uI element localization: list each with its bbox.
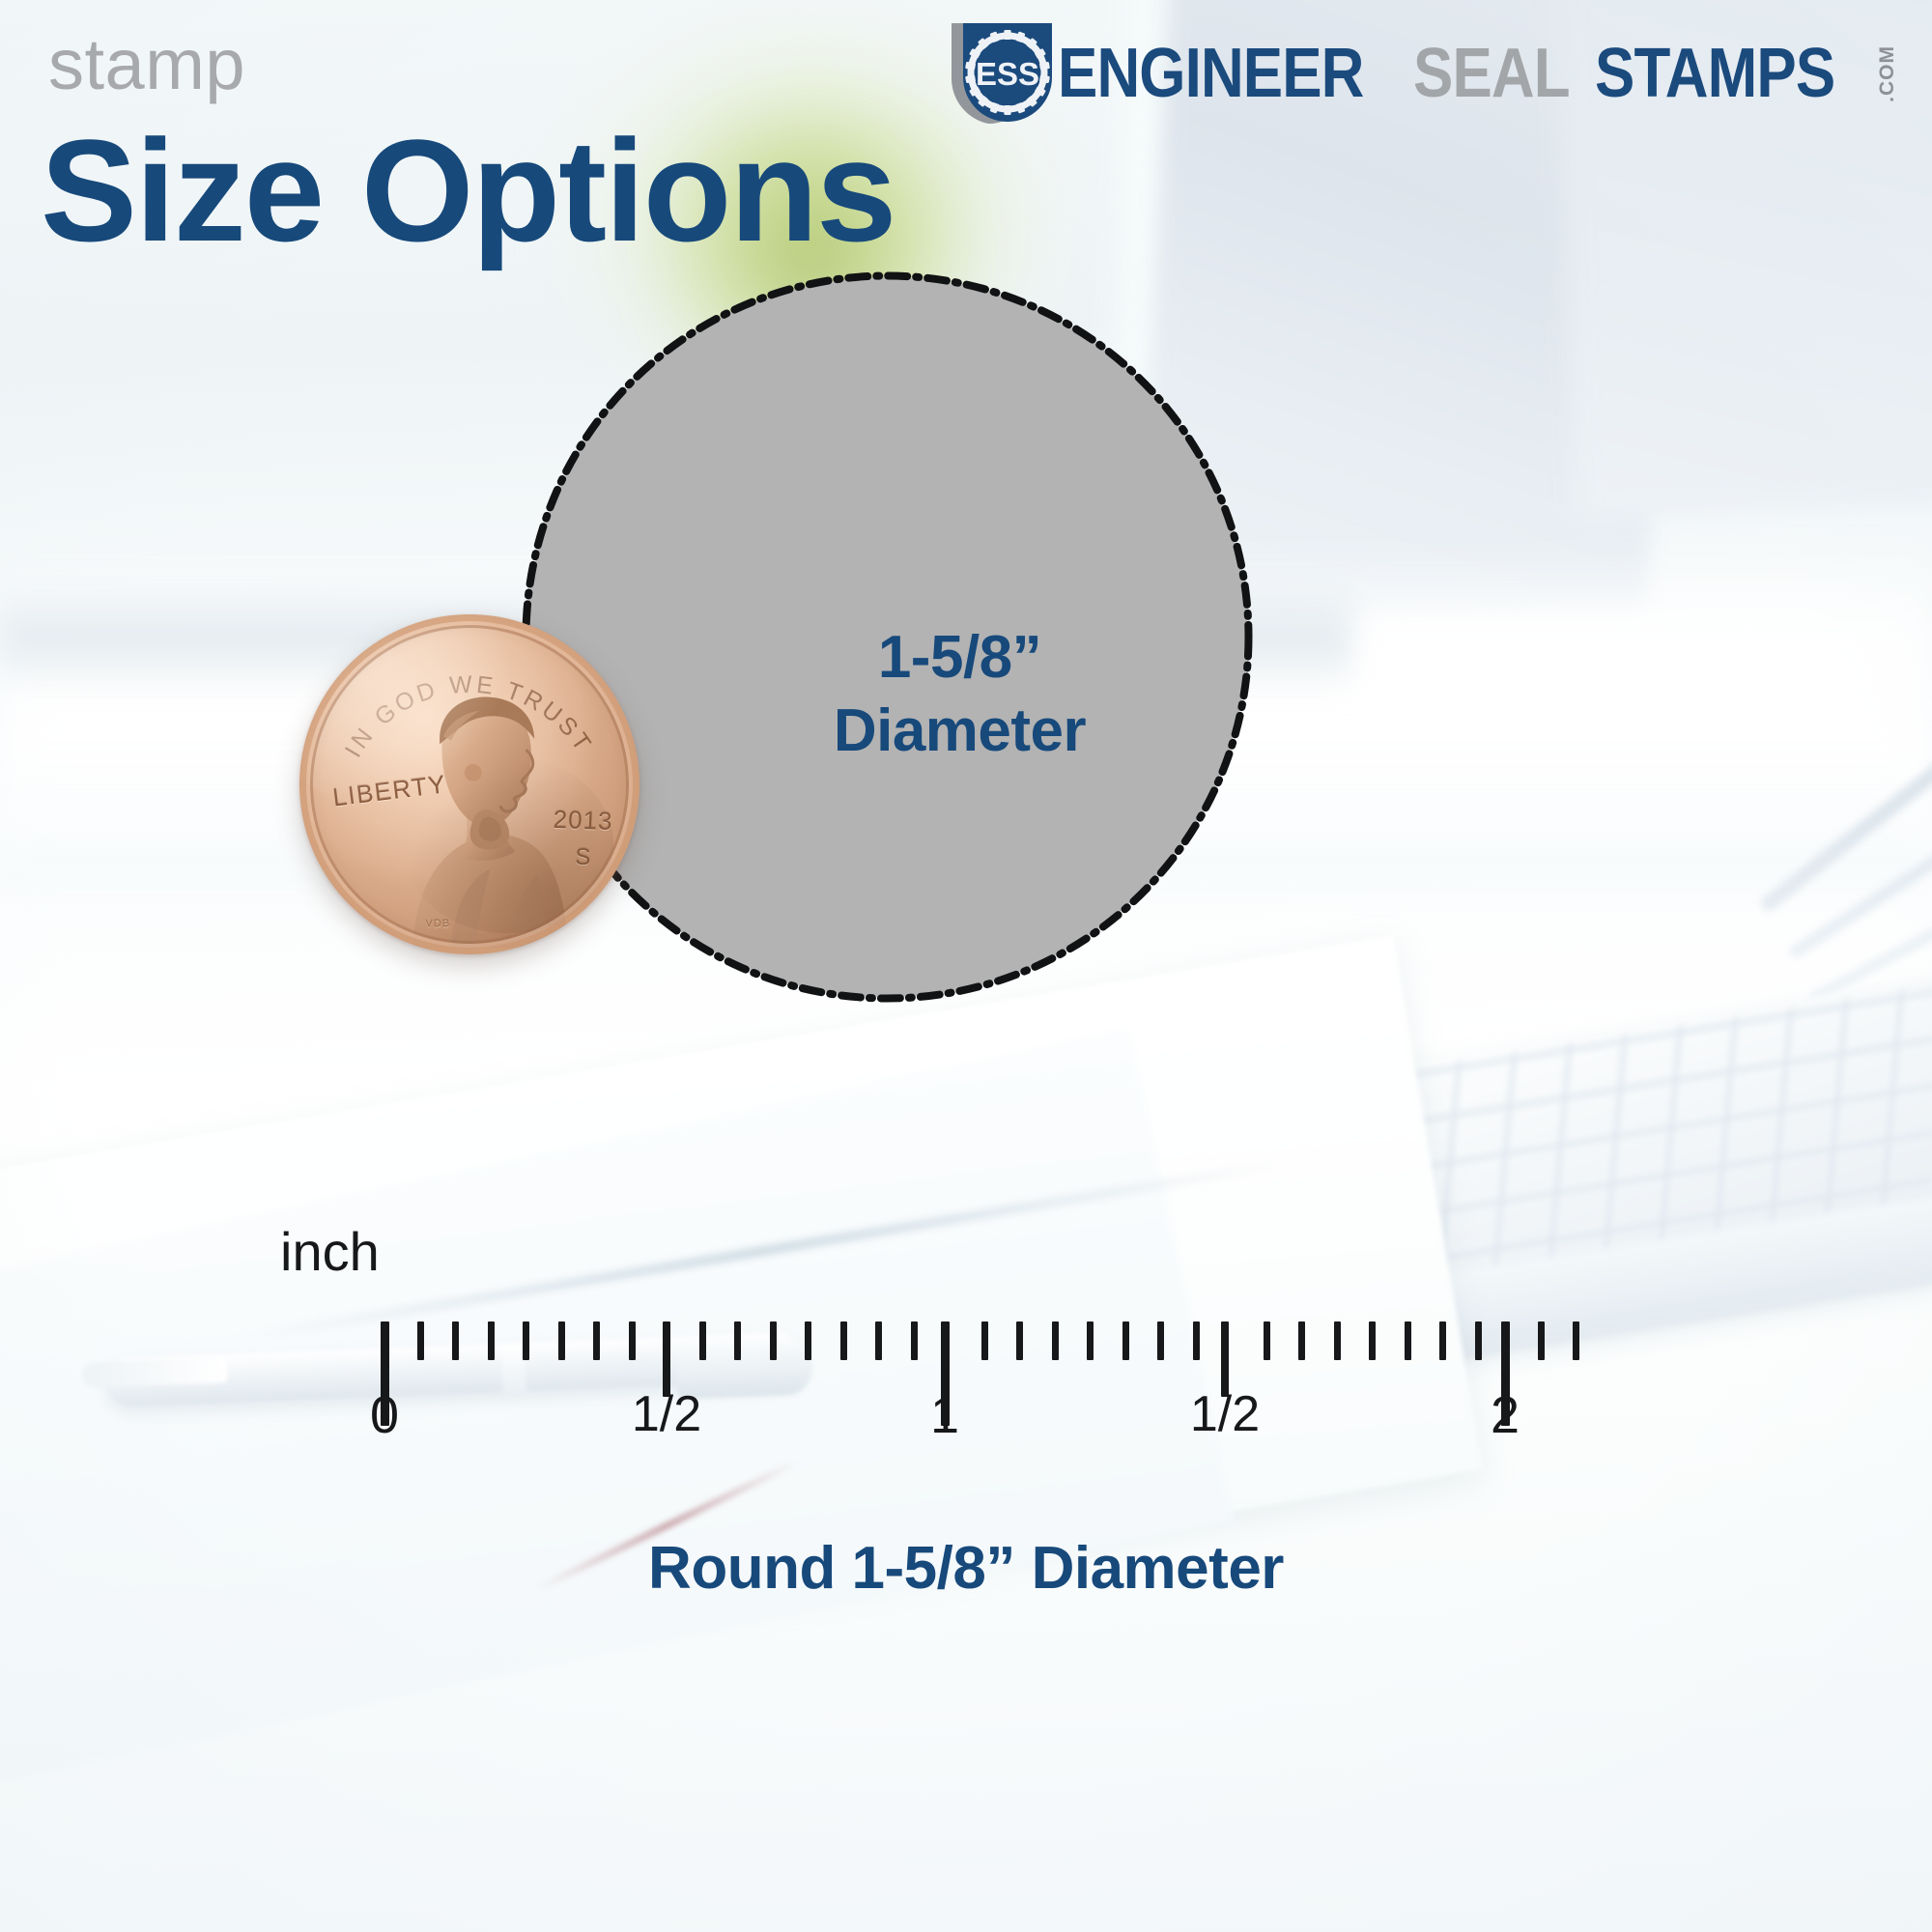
ruler-tick-minor (1369, 1321, 1376, 1360)
ruler-tick-minor (875, 1321, 882, 1360)
ruler-tick-minor (1264, 1321, 1270, 1360)
ruler-tick-minor (734, 1321, 741, 1360)
ruler-tick-minor (1405, 1321, 1411, 1360)
ruler-tick-minor (452, 1321, 459, 1360)
ess-badge-icon: ESS (942, 17, 1062, 129)
ruler-tick-minor (981, 1321, 988, 1360)
brand-logo[interactable]: ESS ENGINEER SEAL STAMPS .COM (942, 17, 1897, 129)
brand-wordmark: ENGINEER SEAL STAMPS .COM (1058, 39, 1897, 108)
ruler-tick-minor (911, 1321, 918, 1360)
ruler-tick-minor (770, 1321, 777, 1360)
ruler-tick-minor (629, 1321, 636, 1360)
ruler-tick-minor (1052, 1321, 1059, 1360)
size-shape-label: 1-5/8” Diameter (834, 621, 1086, 767)
ruler-tick-minor (1334, 1321, 1341, 1360)
ruler-label: 1/2 (1190, 1389, 1260, 1439)
ruler-label: 0 (370, 1389, 399, 1441)
ruler-tick-minor (1016, 1321, 1023, 1360)
svg-text:ESS: ESS (976, 56, 1039, 92)
ruler-tick-minor (1193, 1321, 1200, 1360)
wordmark-engineer: ENGINEER (1058, 39, 1364, 108)
size-caption: Round 1-5/8” Diameter (0, 1534, 1932, 1603)
ruler-tick-minor (1298, 1321, 1305, 1360)
ruler-tick-minor (1087, 1321, 1094, 1360)
ruler-tick-minor (488, 1321, 495, 1360)
size-shape-circle: 1-5/8” Diameter (527, 277, 1247, 997)
size-diameter-text: Diameter (834, 695, 1086, 768)
ruler-tick-minor (593, 1321, 600, 1360)
ruler-tick-minor (1157, 1321, 1164, 1360)
ruler-tick-minor (840, 1321, 847, 1360)
ruler-label: 1/2 (632, 1389, 701, 1439)
wordmark-tld: .COM (1877, 45, 1897, 102)
eyebrow-label: stamp (48, 29, 245, 100)
wordmark-stamps: STAMPS (1595, 39, 1834, 108)
wordmark-seal: SEAL (1413, 39, 1570, 108)
size-dimension-text: 1-5/8” (834, 621, 1086, 695)
ruler-tick-minor (417, 1321, 424, 1360)
ruler-tick-minor (699, 1321, 706, 1360)
ruler-label: 1 (930, 1389, 959, 1441)
ruler-tick-minor (523, 1321, 529, 1360)
ruler-label: 2 (1491, 1389, 1520, 1441)
ruler-tick-minor (1573, 1321, 1579, 1360)
ruler-tick-minor (1439, 1321, 1446, 1360)
ruler-tick-minor (1538, 1321, 1545, 1360)
ruler-tick-minor (1475, 1321, 1482, 1360)
ruler: 01/211/22 (0, 1217, 1932, 1507)
ruler-tick-minor (805, 1321, 811, 1360)
page-title: Size Options (41, 118, 895, 263)
ruler-tick-minor (1122, 1321, 1129, 1360)
ruler-tick-minor (558, 1321, 565, 1360)
